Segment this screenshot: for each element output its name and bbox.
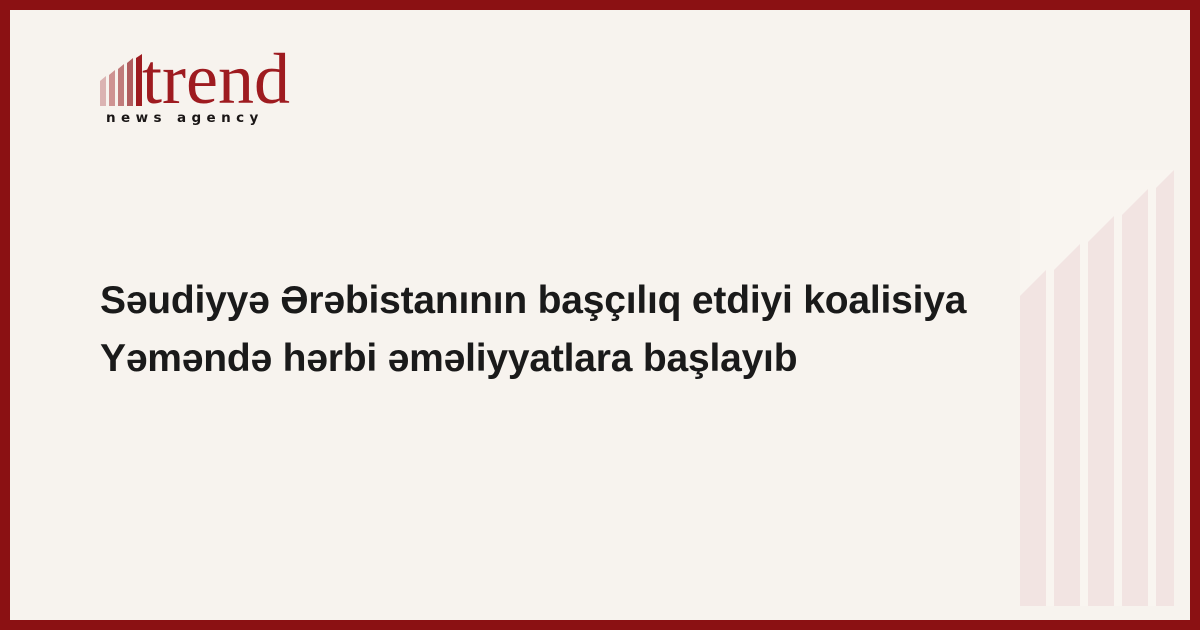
watermark-bar [1156,170,1174,606]
card-inner-surface: trend news agency Səudiyyə Ərəbistanının… [10,10,1190,620]
watermark-bar [1088,216,1114,606]
logo-wordmark: trend [98,48,398,110]
watermark-bar-group [1008,170,1174,606]
watermark-bar [1122,189,1148,606]
watermark-bar [1020,270,1046,606]
page-title: Səudiyyə Ərəbistanının başçılıq etdiyi k… [100,272,980,388]
watermark-panel [1020,170,1174,606]
social-share-card: trend news agency Səudiyyə Ərəbistanının… [0,0,1200,630]
headline-line-1: Səudiyyə Ərəbistanının başçılıq etdiyi k… [100,272,980,330]
logo-tagline: news agency [106,110,264,126]
watermark-bar [1054,244,1080,606]
brand-logo[interactable]: trend news agency [98,48,398,140]
headline-line-2: Yəməndə hərbi əməliyyatlara başlayıb [100,330,980,388]
ascending-bars-watermark [1008,170,1174,606]
svg-text:trend: trend [142,48,290,110]
